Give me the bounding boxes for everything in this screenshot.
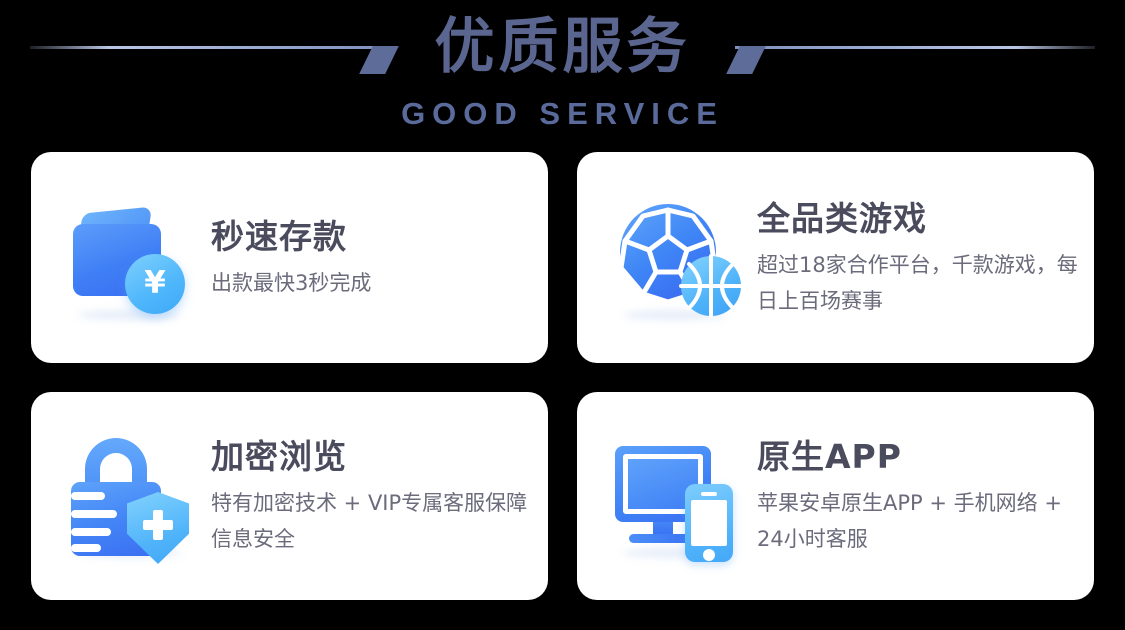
- lock-slot: [71, 544, 101, 552]
- card-title: 原生APP: [757, 435, 1082, 479]
- phone-icon: [685, 484, 733, 562]
- service-features-banner: 优质服务 GOOD SERVICE ¥ 秒速存款 出款最快3秒完成: [0, 0, 1125, 630]
- card-text-block: 全品类游戏 超过18家合作平台，千款游戏，每日上百场赛事: [757, 197, 1094, 319]
- banner-header: 优质服务 GOOD SERVICE: [0, 0, 1125, 145]
- card-description: 苹果安卓原生APP + 手机网络 + 24小时客服: [757, 485, 1082, 557]
- feature-card-grid: ¥ 秒速存款 出款最快3秒完成: [31, 152, 1094, 600]
- lock-slot: [71, 492, 105, 500]
- phone-home-button: [703, 549, 715, 561]
- page-subtitle: GOOD SERVICE: [0, 96, 1125, 132]
- card-title: 全品类游戏: [757, 197, 1082, 241]
- lock-shield-icon: [65, 430, 197, 562]
- page-title: 优质服务: [0, 8, 1125, 86]
- yen-coin-icon: ¥: [125, 254, 185, 314]
- card-text-block: 原生APP 苹果安卓原生APP + 手机网络 + 24小时客服: [757, 435, 1094, 557]
- yen-symbol: ¥: [144, 268, 166, 299]
- card-description: 超过18家合作平台，千款游戏，每日上百场赛事: [757, 247, 1082, 319]
- card-text-block: 秒速存款 出款最快3秒完成: [211, 215, 383, 301]
- wallet-coin-icon: ¥: [65, 192, 197, 324]
- phone-screen: [691, 500, 727, 546]
- card-text-block: 加密浏览 特有加密技术 + VIP专属客服保障信息安全: [211, 435, 548, 557]
- monitor-phone-icon: [611, 430, 743, 562]
- feature-card-games[interactable]: 全品类游戏 超过18家合作平台，千款游戏，每日上百场赛事: [577, 152, 1094, 363]
- ball-graphics: [613, 198, 741, 320]
- card-title: 加密浏览: [211, 435, 536, 479]
- soccer-basketball-icon: [611, 192, 743, 324]
- lock-slot: [71, 528, 111, 536]
- lock-slot: [71, 510, 117, 518]
- cross-icon: [143, 510, 173, 540]
- card-description: 特有加密技术 + VIP专属客服保障信息安全: [211, 485, 536, 557]
- feature-card-encryption[interactable]: 加密浏览 特有加密技术 + VIP专属客服保障信息安全: [31, 392, 548, 600]
- feature-card-deposit[interactable]: ¥ 秒速存款 出款最快3秒完成: [31, 152, 548, 363]
- feature-card-native-app[interactable]: 原生APP 苹果安卓原生APP + 手机网络 + 24小时客服: [577, 392, 1094, 600]
- phone-speaker: [701, 492, 717, 496]
- card-description: 出款最快3秒完成: [211, 265, 371, 301]
- card-title: 秒速存款: [211, 215, 371, 259]
